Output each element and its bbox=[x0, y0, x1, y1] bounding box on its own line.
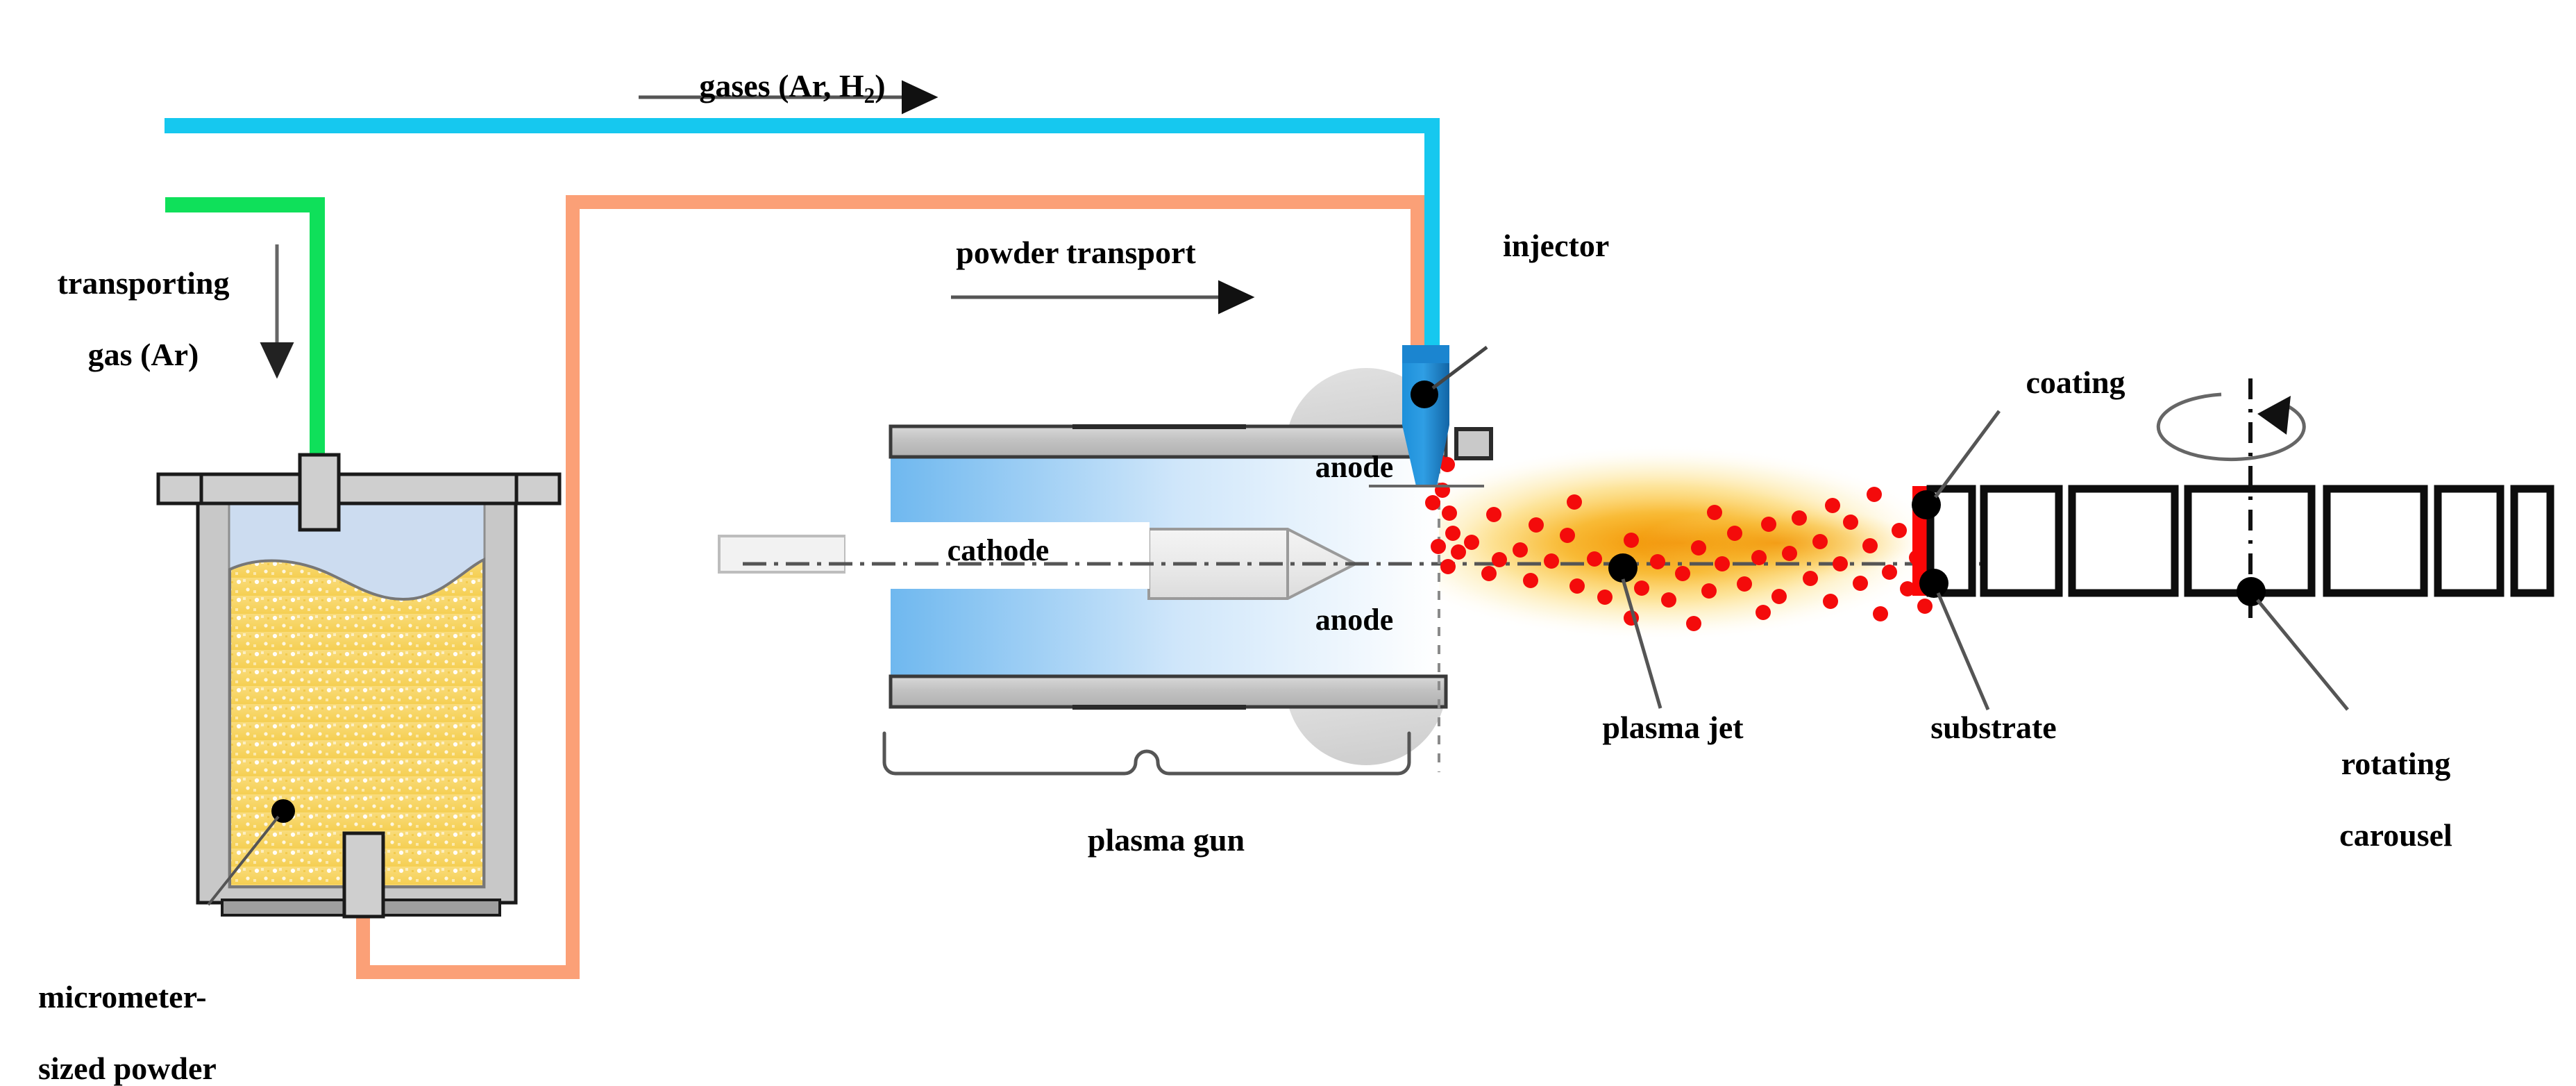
transporting-gas-label: transporting gas (Ar) bbox=[7, 229, 264, 372]
gases-label: gases (Ar, H2) bbox=[597, 32, 972, 107]
substrate-label: substrate bbox=[1855, 710, 2132, 746]
anode-top-label: anode bbox=[1268, 450, 1441, 484]
injector-label: injector bbox=[1503, 228, 1609, 264]
coating-label: coating bbox=[1958, 365, 2194, 401]
plasma-jet-label: plasma jet bbox=[1541, 710, 1805, 746]
cathode-label: cathode bbox=[866, 533, 1130, 567]
plasma-jet-glow bbox=[1374, 444, 1944, 642]
powder-transport-label: powder transport bbox=[861, 235, 1291, 271]
spray-process-diagram: gases (Ar, H2) transporting gas (Ar) pow… bbox=[0, 0, 2576, 1074]
plasma-gun-label: plasma gun bbox=[965, 822, 1367, 858]
powder-hopper bbox=[158, 455, 559, 917]
rotating-carousel-label: rotating carousel bbox=[2249, 710, 2527, 853]
diagram-canvas bbox=[0, 0, 2576, 1074]
rotating-carousel bbox=[1912, 378, 2550, 710]
anode-bottom-label: anode bbox=[1268, 603, 1441, 637]
micrometer-powder-label: micrometer- sized powder bbox=[22, 943, 217, 1086]
